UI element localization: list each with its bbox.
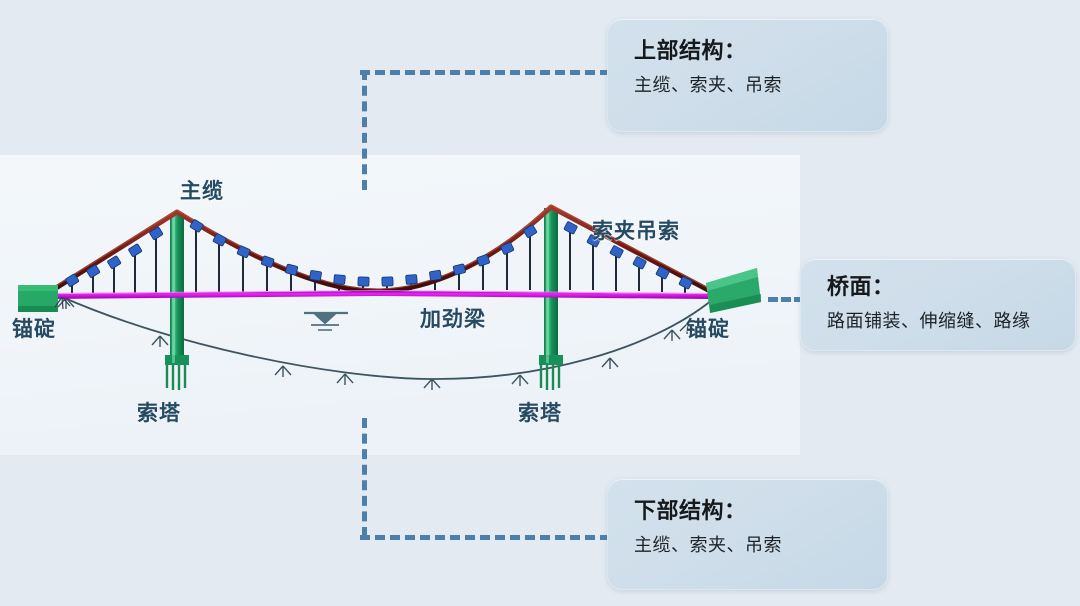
callout-lower-structure-body: 主缆、索夹、吊索: [634, 534, 865, 557]
callout-bridge-deck[interactable]: 桥面： 路面铺装、伸缩缝、路缘: [800, 258, 1076, 351]
callout-upper-structure-body: 主缆、索夹、吊索: [634, 74, 865, 97]
connector-lower-vertical: [362, 418, 367, 537]
label-pylon-right: 索塔: [518, 397, 562, 427]
label-stiffening-girder: 加劲梁: [420, 303, 486, 333]
diagram-canvas: 主缆 索夹吊索 锚碇 锚碇 加劲梁 索塔 索塔 上部结构： 主缆、索夹、吊索 桥…: [0, 0, 1080, 606]
callout-bridge-deck-body: 路面铺装、伸缩缝、路缘: [827, 310, 1053, 333]
callout-upper-structure[interactable]: 上部结构： 主缆、索夹、吊索: [607, 18, 888, 132]
label-pylon-left: 索塔: [137, 397, 181, 427]
connector-lower-horizontal: [360, 535, 610, 540]
callout-lower-structure-title: 下部结构：: [634, 497, 865, 525]
callout-lower-structure[interactable]: 下部结构： 主缆、索夹、吊索: [607, 478, 888, 590]
label-anchorage-right: 锚碇: [686, 313, 730, 343]
callout-upper-structure-title: 上部结构：: [634, 37, 865, 65]
label-clamp-hanger: 索夹吊索: [592, 215, 680, 245]
callout-bridge-deck-title: 桥面：: [827, 273, 1053, 301]
connector-upper-vertical: [362, 70, 367, 190]
label-main-cable: 主缆: [180, 175, 224, 205]
connector-deck-horizontal: [768, 297, 804, 302]
connector-upper-horizontal: [360, 70, 610, 75]
label-anchorage-left: 锚碇: [12, 313, 56, 343]
anchorage-left-block: [18, 285, 58, 312]
